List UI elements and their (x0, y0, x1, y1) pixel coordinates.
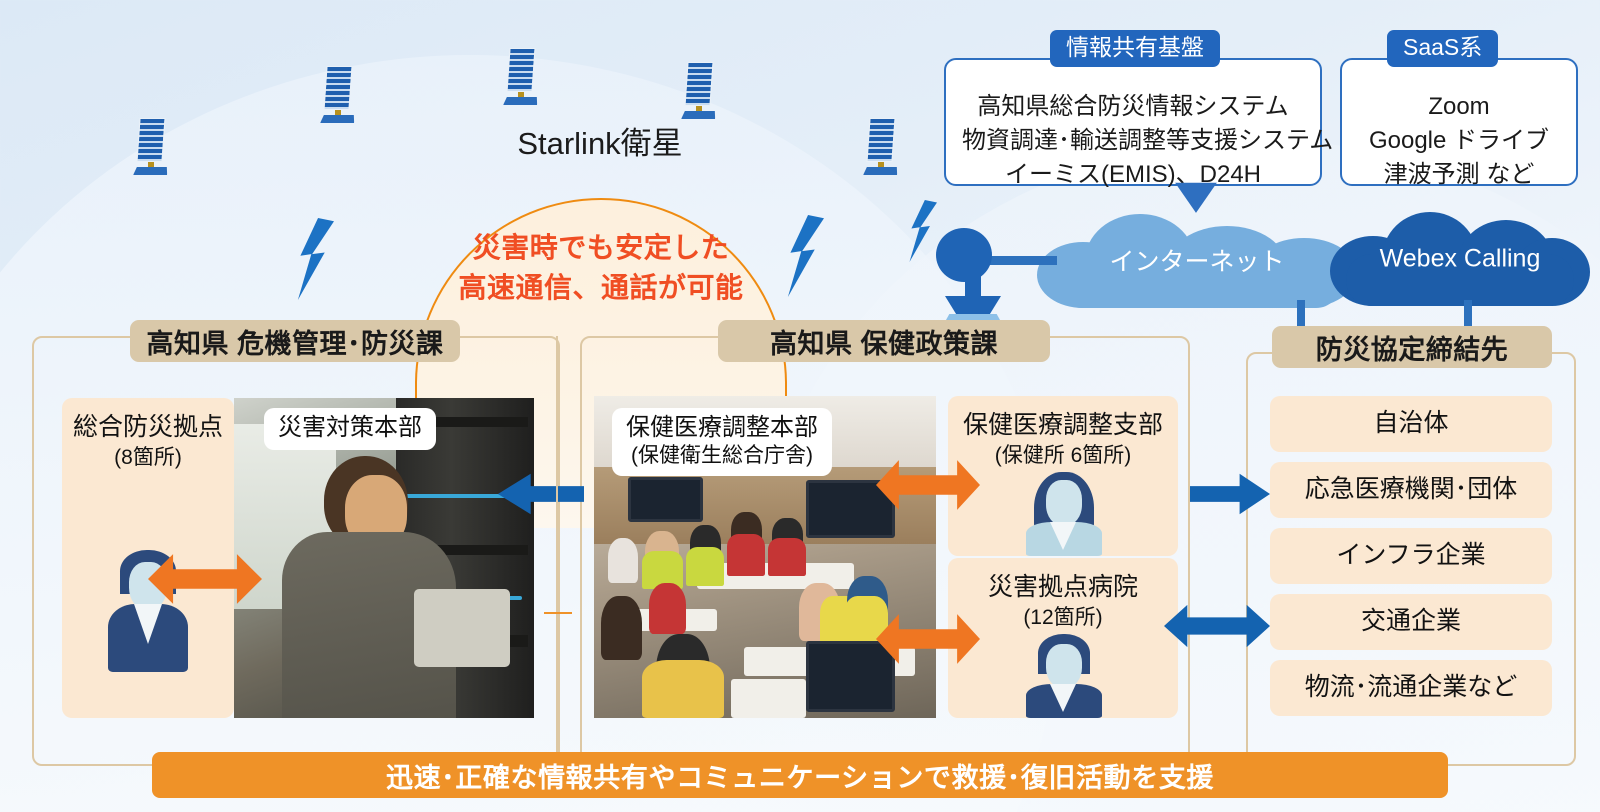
card-disaster-hospital-title: 災害拠点病院 (948, 558, 1178, 603)
photo-health-hq-caption: 保健医療調整本部 (保健衛生総合庁舎) (612, 408, 832, 476)
internet-cloud-label: インターネット (1037, 242, 1357, 278)
panel-partners-tab: 防災協定締結先 (1272, 326, 1552, 368)
partner-item: インフラ企業 (1270, 528, 1552, 584)
partner-item: 物流･流通企業など (1270, 660, 1552, 716)
panel-crisis-management-tab: 高知県 危機管理･防災課 (130, 320, 460, 362)
partner-item-label: 応急医療機関･団体 (1270, 462, 1552, 505)
info-box-platform: 高知県総合防災情報システム 物資調達･輸送調整等支援システム イーミス(EMIS… (944, 58, 1322, 186)
partner-item: 応急医療機関･団体 (1270, 462, 1552, 518)
person-female-icon (1020, 472, 1108, 556)
saas-line-2: Google ドライブ (1358, 124, 1560, 158)
info-box-platform-lines: 高知県総合防災情報システム 物資調達･輸送調整等支援システム イーミス(EMIS… (946, 60, 1320, 206)
partner-item: 自治体 (1270, 396, 1552, 452)
card-comprehensive-base-sub: (8箇所) (62, 443, 234, 471)
saas-line-3: 津波予測 など (1358, 158, 1560, 192)
info-box-saas-lines: Zoom Google ドライブ 津波予測 など (1342, 60, 1576, 206)
partner-item-label: 交通企業 (1270, 594, 1552, 637)
platform-line-3: イーミス(EMIS)、D24H (962, 158, 1304, 192)
partner-item-label: 自治体 (1270, 396, 1552, 439)
webex-cloud: Webex Calling (1330, 212, 1590, 306)
dome-text-line1: 災害時でも安定した (420, 228, 782, 268)
card-health-branch-title: 保健医療調整支部 (948, 396, 1178, 441)
photo-disaster-hq: 災害対策本部 (234, 398, 534, 718)
platform-line-2: 物資調達･輸送調整等支援システム (962, 124, 1304, 158)
platform-line-1: 高知県総合防災情報システム (962, 90, 1304, 124)
partner-item-label: 物流･流通企業など (1270, 660, 1552, 703)
rail-orange-divider (544, 612, 572, 614)
person-male-icon (1022, 634, 1106, 718)
summary-banner: 迅速･正確な情報共有やコミュニケーションで救援･復旧活動を支援 (152, 752, 1448, 798)
partner-item-label: インフラ企業 (1270, 528, 1552, 571)
platform-to-internet-pointer (1178, 186, 1214, 212)
saas-line-1: Zoom (1358, 90, 1560, 124)
info-box-platform-tag: 情報共有基盤 (1050, 30, 1220, 67)
person-male-icon (102, 550, 194, 672)
satellite-icon (325, 66, 351, 123)
satellite-icon (868, 118, 894, 175)
photo-health-hq-caption-main: 保健医療調整本部 (626, 414, 818, 441)
card-disaster-hospital: 災害拠点病院 (12箇所) (948, 558, 1178, 718)
satellite-icon (138, 118, 164, 175)
card-health-branch-sub: (保健所 6箇所) (948, 441, 1178, 469)
card-health-branch: 保健医療調整支部 (保健所 6箇所) (948, 396, 1178, 556)
photo-disaster-hq-caption: 災害対策本部 (264, 408, 436, 450)
photo-health-hq-caption-sub: (保健衛生総合庁舎) (626, 443, 818, 469)
satellite-icon (508, 48, 534, 105)
starlink-label: Starlink衛星 (400, 118, 800, 163)
internet-cloud: インターネット (1037, 212, 1357, 308)
info-box-saas: Zoom Google ドライブ 津波予測 など (1340, 58, 1578, 186)
info-box-saas-tag: SaaS系 (1387, 30, 1498, 67)
card-comprehensive-base-title: 総合防災拠点 (62, 398, 234, 443)
dome-text-line2: 高速通信、通話が可能 (420, 268, 782, 308)
satellite-icon (686, 62, 712, 119)
dome-text: 災害時でも安定した 高速通信、通話が可能 (420, 228, 782, 308)
card-comprehensive-base: 総合防災拠点 (8箇所) (62, 398, 234, 718)
partner-item: 交通企業 (1270, 594, 1552, 650)
rail-vertical-crisis (556, 336, 558, 754)
webex-cloud-label: Webex Calling (1330, 245, 1590, 274)
card-disaster-hospital-sub: (12箇所) (948, 603, 1178, 631)
diagram-canvas: Starlink衛星 災害時でも安定した 高速通信、通話が可能 高知県総合防災情… (0, 0, 1600, 812)
photo-health-coordination-hq: 保健医療調整本部 (保健衛生総合庁舎) (594, 396, 936, 718)
panel-health-policy-tab: 高知県 保健政策課 (718, 320, 1050, 362)
